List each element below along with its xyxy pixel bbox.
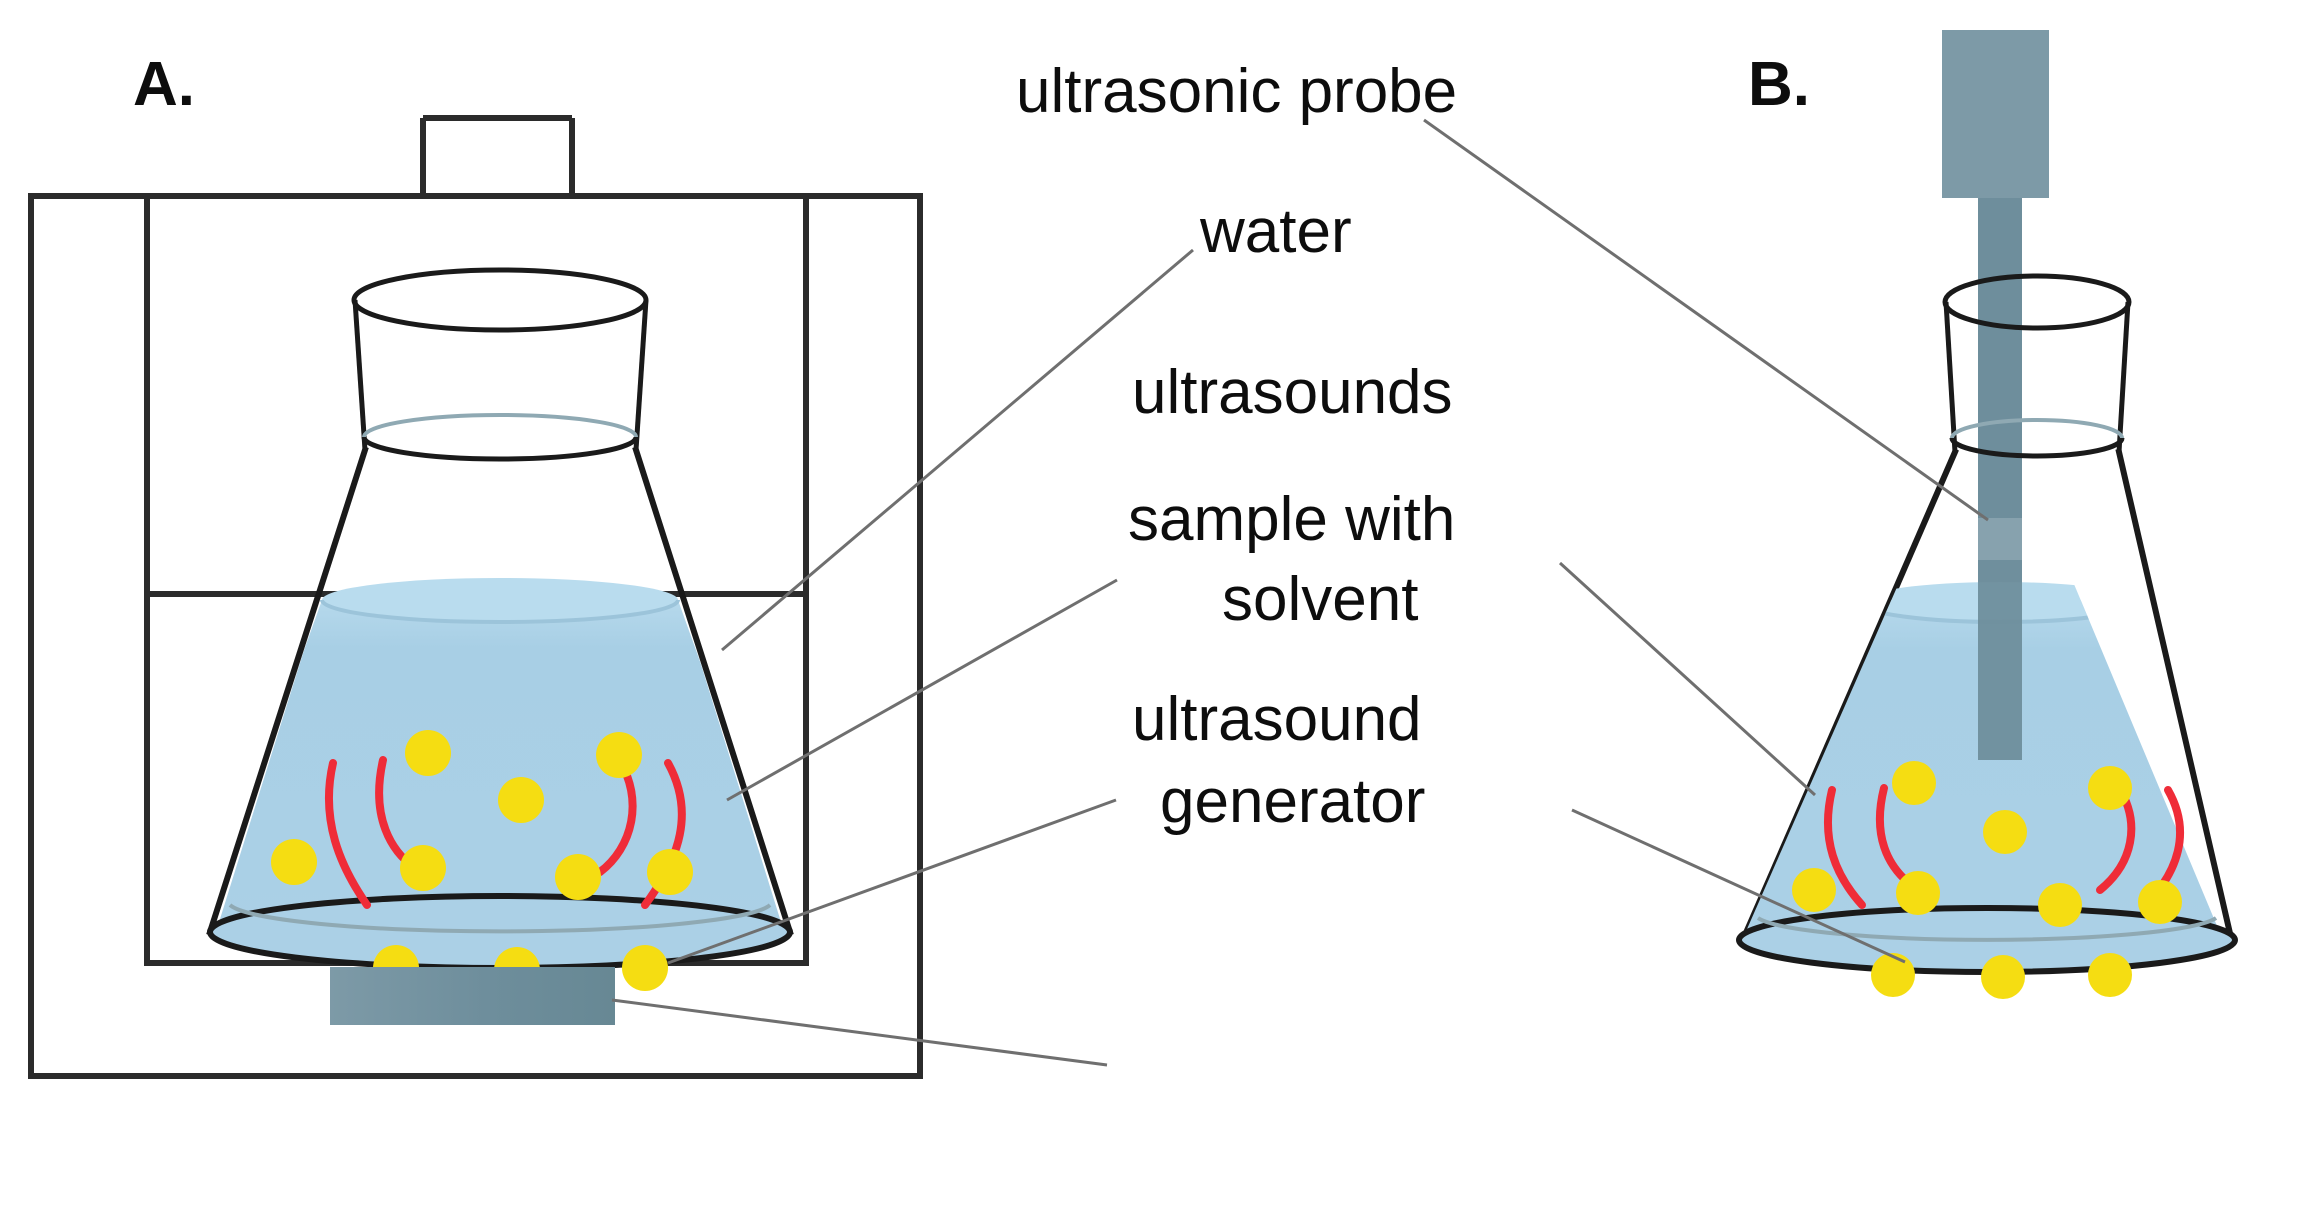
ultrasound-generator-plate	[330, 967, 615, 1025]
leader-ultrasound-generator	[612, 1000, 1107, 1065]
ultrasound-extraction-diagram: A.	[0, 0, 2302, 1207]
panel-a-letter: A.	[133, 50, 195, 119]
flask-a-neck	[354, 270, 646, 459]
figure-canvas: A.	[0, 0, 2302, 1207]
label-ultrasonic-probe: ultrasonic probe	[1016, 57, 1457, 126]
leader-water	[722, 250, 1193, 650]
label-water: water	[1199, 197, 1352, 266]
label-sample-with-solvent-line1: sample with	[1128, 485, 1455, 554]
label-ultrasounds: ultrasounds	[1132, 358, 1453, 427]
panel-b-group: B.	[1730, 30, 2250, 999]
bath-lid-handle	[423, 118, 572, 196]
leader-ultrasonic-probe	[1424, 120, 1988, 520]
leader-ultrasounds-b	[1560, 563, 1815, 795]
panel-b-letter: B.	[1748, 50, 1810, 119]
label-sample-with-solvent-line2: solvent	[1222, 565, 1418, 634]
label-ultrasound-generator-line2: generator	[1160, 767, 1425, 836]
panel-a-group: A.	[31, 50, 920, 1076]
flask-a-liquid	[200, 578, 800, 940]
callout-texts: ultrasonic probe water ultrasounds sampl…	[1016, 57, 1457, 836]
label-ultrasound-generator-line1: ultrasound	[1132, 685, 1422, 754]
flask-b-neck	[1945, 276, 2129, 456]
